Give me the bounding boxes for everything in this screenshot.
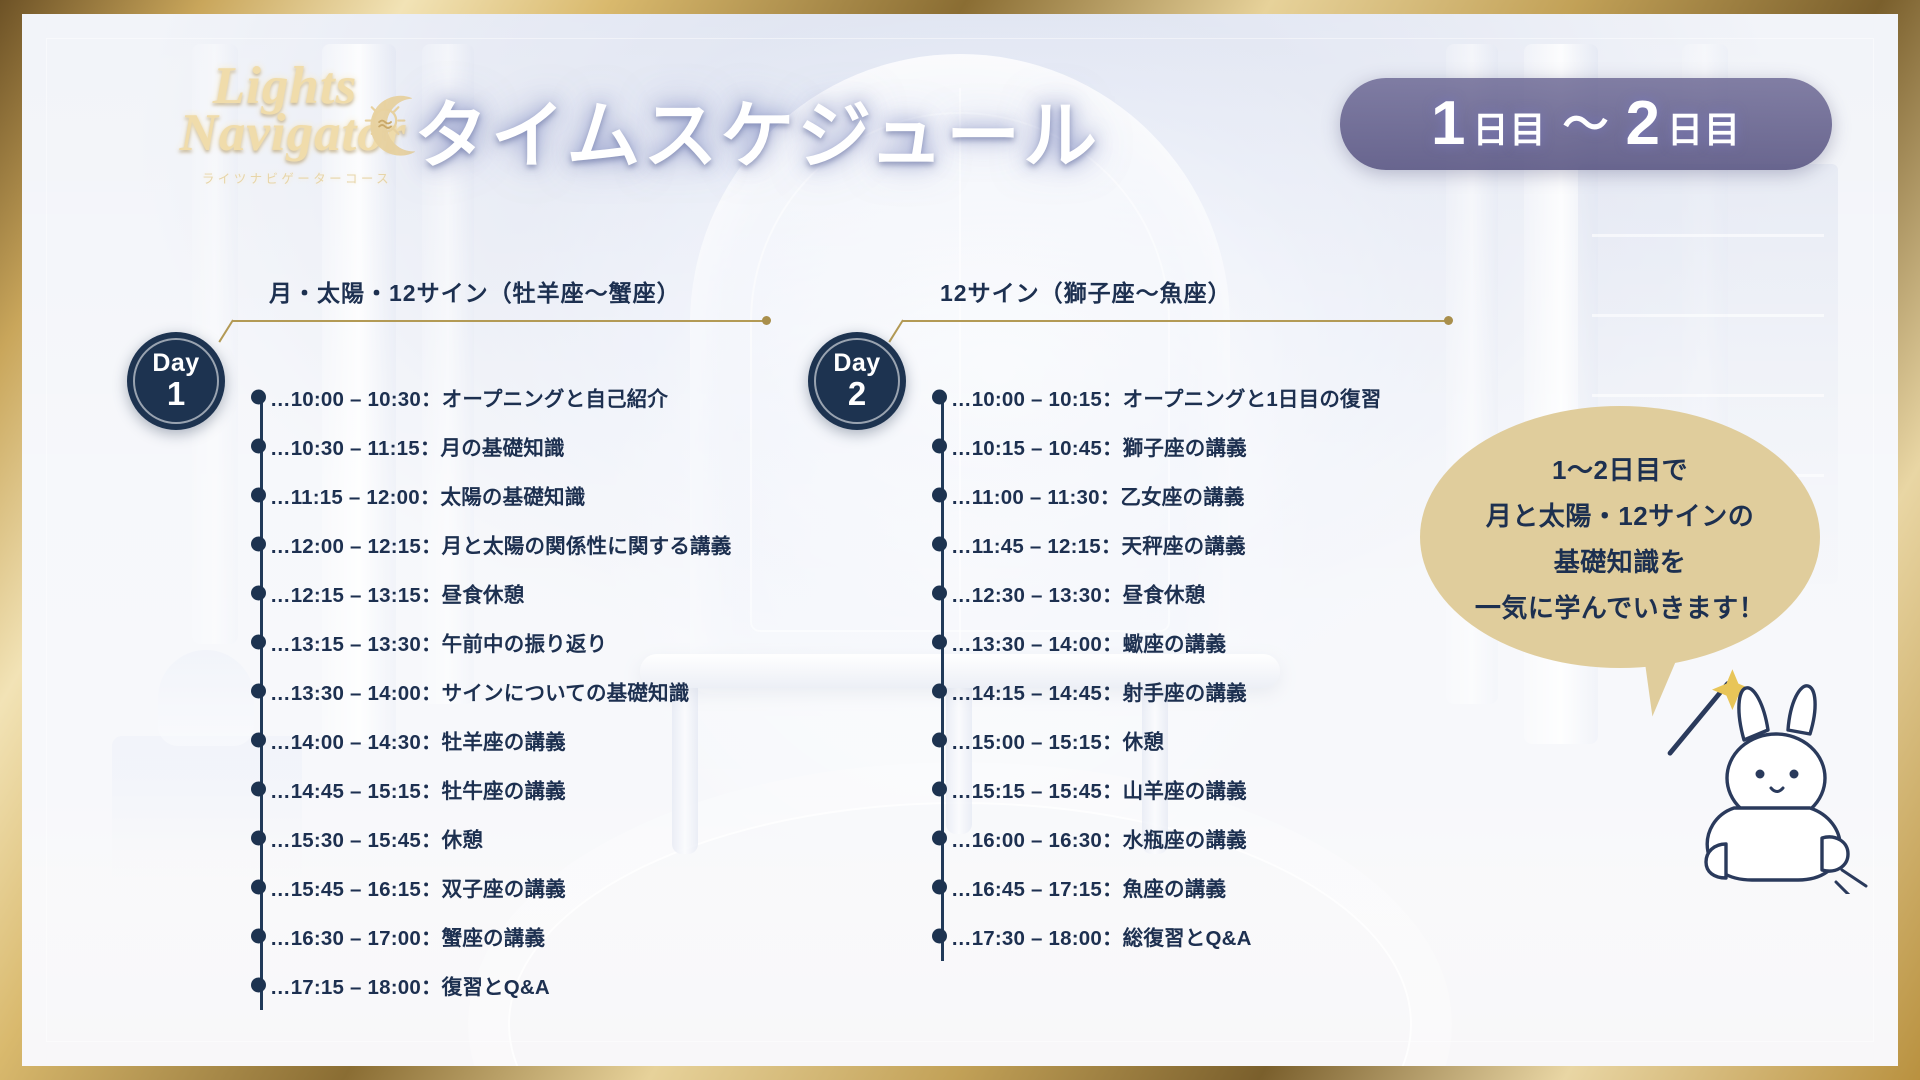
poster-header: Lights Navigator ライツナビゲーターコース xyxy=(22,14,1898,224)
timeline-dot xyxy=(251,389,266,404)
schedule-item-label: …17:30 – 18:00：総復習とQ&A xyxy=(951,921,1252,951)
timeline-dot xyxy=(932,781,947,796)
schedule-item: …14:45 – 15:15：牡牛座の講義 xyxy=(270,764,910,813)
schedule-item: …14:15 – 14:45：射手座の講義 xyxy=(951,666,1551,715)
schedule-item: …10:30 – 11:15：月の基礎知識 xyxy=(270,421,910,470)
schedule-item: …13:15 – 13:30：午前中の振り返り xyxy=(270,617,910,666)
timeline-dot xyxy=(251,487,266,502)
schedule-item: …17:15 – 18:00：復習とQ&A xyxy=(270,960,910,1009)
schedule-item-label: …14:00 – 14:30：牡羊座の講義 xyxy=(270,725,566,755)
callout-line: 一気に学んでいきます！ xyxy=(1475,588,1765,625)
schedule-item-label: …11:45 – 12:15：天秤座の講義 xyxy=(951,529,1246,559)
poster-root: Lights Navigator ライツナビゲーターコース xyxy=(0,0,1920,1080)
day2-connector-line xyxy=(902,320,1447,322)
callout-line: 月と太陽・12サインの xyxy=(1486,496,1754,533)
callout-line: 基礎知識を xyxy=(1554,542,1687,579)
day1-badge-word: Day xyxy=(152,351,199,376)
timeline-dot xyxy=(251,536,266,551)
day1-badge-number: 1 xyxy=(167,377,185,412)
schedule-item-label: …13:30 – 14:00：蠍座の講義 xyxy=(951,627,1226,657)
timeline-dot xyxy=(251,781,266,796)
timeline-dot xyxy=(932,487,947,502)
timeline-dot xyxy=(932,389,947,404)
timeline-dot xyxy=(932,928,947,943)
schedule-item-label: …11:15 – 12:00：太陽の基礎知識 xyxy=(270,480,585,510)
schedule-item: …13:30 – 14:00：蠍座の講義 xyxy=(951,617,1551,666)
poster-inner: Lights Navigator ライツナビゲーターコース xyxy=(22,14,1898,1066)
schedule-item-label: …16:00 – 16:30：水瓶座の講義 xyxy=(951,823,1247,853)
schedule-item-label: …14:45 – 15:15：牡牛座の講義 xyxy=(270,774,566,804)
day1-heading: 月・太陽・12サイン（牡羊座〜蟹座） xyxy=(269,274,681,308)
schedule-item-label: …10:00 – 10:30：オープニングと自己紹介 xyxy=(270,382,668,412)
day2-heading: 12サイン（獅子座〜魚座） xyxy=(940,274,1232,308)
timeline-dot xyxy=(932,634,947,649)
timeline-dot xyxy=(932,585,947,600)
timeline-dot xyxy=(932,536,947,551)
schedule-item: …10:00 – 10:15：オープニングと1日目の復習 xyxy=(951,372,1551,421)
schedule-item-label: …12:00 – 12:15：月と太陽の関係性に関する講義 xyxy=(270,529,731,559)
timeline-dot xyxy=(251,977,266,992)
rabbit-mascot-icon xyxy=(1670,674,1898,894)
schedule-item: …12:15 – 13:15：昼食休憩 xyxy=(270,568,910,617)
schedule-item: …12:00 – 12:15：月と太陽の関係性に関する講義 xyxy=(270,519,910,568)
timeline-dot xyxy=(932,830,947,845)
schedule-item: …16:30 – 17:00：蟹座の講義 xyxy=(270,911,910,960)
timeline-dot xyxy=(932,438,947,453)
timeline-dot xyxy=(251,830,266,845)
timeline-dot xyxy=(251,683,266,698)
schedule-item-label: …15:15 – 15:45：山羊座の講義 xyxy=(951,774,1247,804)
schedule-item-label: …16:30 – 17:00：蟹座の講義 xyxy=(270,921,545,951)
timeline-dot xyxy=(251,585,266,600)
schedule-item-label: …10:30 – 11:15：月の基礎知識 xyxy=(270,431,565,461)
schedule-item: …15:15 – 15:45：山羊座の講義 xyxy=(951,764,1551,813)
day-range-from-unit: 日目 xyxy=(1472,112,1546,148)
schedule-item-label: …15:45 – 16:15：双子座の講義 xyxy=(270,872,566,902)
schedule-item: …13:30 – 14:00：サインについての基礎知識 xyxy=(270,666,910,715)
schedule-item: …16:45 – 17:15：魚座の講義 xyxy=(951,862,1551,911)
schedule-item-label: …13:30 – 14:00：サインについての基礎知識 xyxy=(270,676,689,706)
schedule-item-label: …15:30 – 15:45：休憩 xyxy=(270,823,483,853)
callout-line: 1〜2日目で xyxy=(1552,450,1688,487)
day2-badge-word: Day xyxy=(833,351,880,376)
schedule-item-label: …13:15 – 13:30：午前中の振り返り xyxy=(270,627,607,657)
day2-badge-number: 2 xyxy=(848,377,866,412)
schedule-item-label: …12:15 – 13:15：昼食休憩 xyxy=(270,578,524,608)
day2-badge: Day 2 xyxy=(808,332,906,430)
schedule-item-label: …17:15 – 18:00：復習とQ&A xyxy=(270,970,550,1000)
schedule-item: …16:00 – 16:30：水瓶座の講義 xyxy=(951,813,1551,862)
schedule-item-label: …10:15 – 10:45：獅子座の講義 xyxy=(951,431,1247,461)
schedule-item-label: …10:00 – 10:15：オープニングと1日目の復習 xyxy=(951,382,1381,412)
day-range-badge: 1 日目 〜 2 日目 xyxy=(1340,78,1832,170)
day1-schedule-list: …10:00 – 10:30：オープニングと自己紹介…10:30 – 11:15… xyxy=(270,372,910,1009)
schedule-item-label: …12:30 – 13:30：昼食休憩 xyxy=(951,578,1205,608)
day1-badge: Day 1 xyxy=(127,332,225,430)
day2-connector-end-dot xyxy=(1444,316,1453,325)
timeline-dot xyxy=(932,683,947,698)
schedule-item: …15:30 – 15:45：休憩 xyxy=(270,813,910,862)
callout-bubble: 1〜2日目で 月と太陽・12サインの 基礎知識を 一気に学んでいきます！ xyxy=(1420,406,1820,668)
day-range-to-unit: 日目 xyxy=(1667,112,1741,148)
schedule-item: …15:00 – 15:15：休憩 xyxy=(951,715,1551,764)
timeline-dot xyxy=(251,438,266,453)
schedule-item-label: …11:00 – 11:30：乙女座の講義 xyxy=(951,480,1245,510)
schedule-item-label: …16:45 – 17:15：魚座の講義 xyxy=(951,872,1226,902)
timeline-dot xyxy=(251,879,266,894)
schedule-item: …11:15 – 12:00：太陽の基礎知識 xyxy=(270,470,910,519)
timeline-dot xyxy=(251,928,266,943)
schedule-item: …15:45 – 16:15：双子座の講義 xyxy=(270,862,910,911)
schedule-item: …17:30 – 18:00：総復習とQ&A xyxy=(951,911,1551,960)
day-range-from-number: 1 xyxy=(1431,93,1466,155)
page-title: タイムスケジュール xyxy=(407,74,1107,184)
day-range-separator: 〜 xyxy=(1563,101,1610,147)
day2-timeline-rail xyxy=(941,396,944,961)
timeline-dot xyxy=(932,732,947,747)
day1-connector-end-dot xyxy=(762,316,771,325)
day1-connector-line xyxy=(232,320,765,322)
brand-logo: Lights Navigator ライツナビゲーターコース xyxy=(172,60,422,210)
day-range-to-number: 2 xyxy=(1626,93,1661,155)
timeline-dot xyxy=(251,732,266,747)
timeline-dot xyxy=(251,634,266,649)
schedule-item-label: …14:15 – 14:45：射手座の講義 xyxy=(951,676,1247,706)
brand-logo-subtitle: ライツナビゲーターコース xyxy=(172,168,422,187)
schedule-item-label: …15:00 – 15:15：休憩 xyxy=(951,725,1164,755)
schedule-item: …14:00 – 14:30：牡羊座の講義 xyxy=(270,715,910,764)
timeline-dot xyxy=(932,879,947,894)
